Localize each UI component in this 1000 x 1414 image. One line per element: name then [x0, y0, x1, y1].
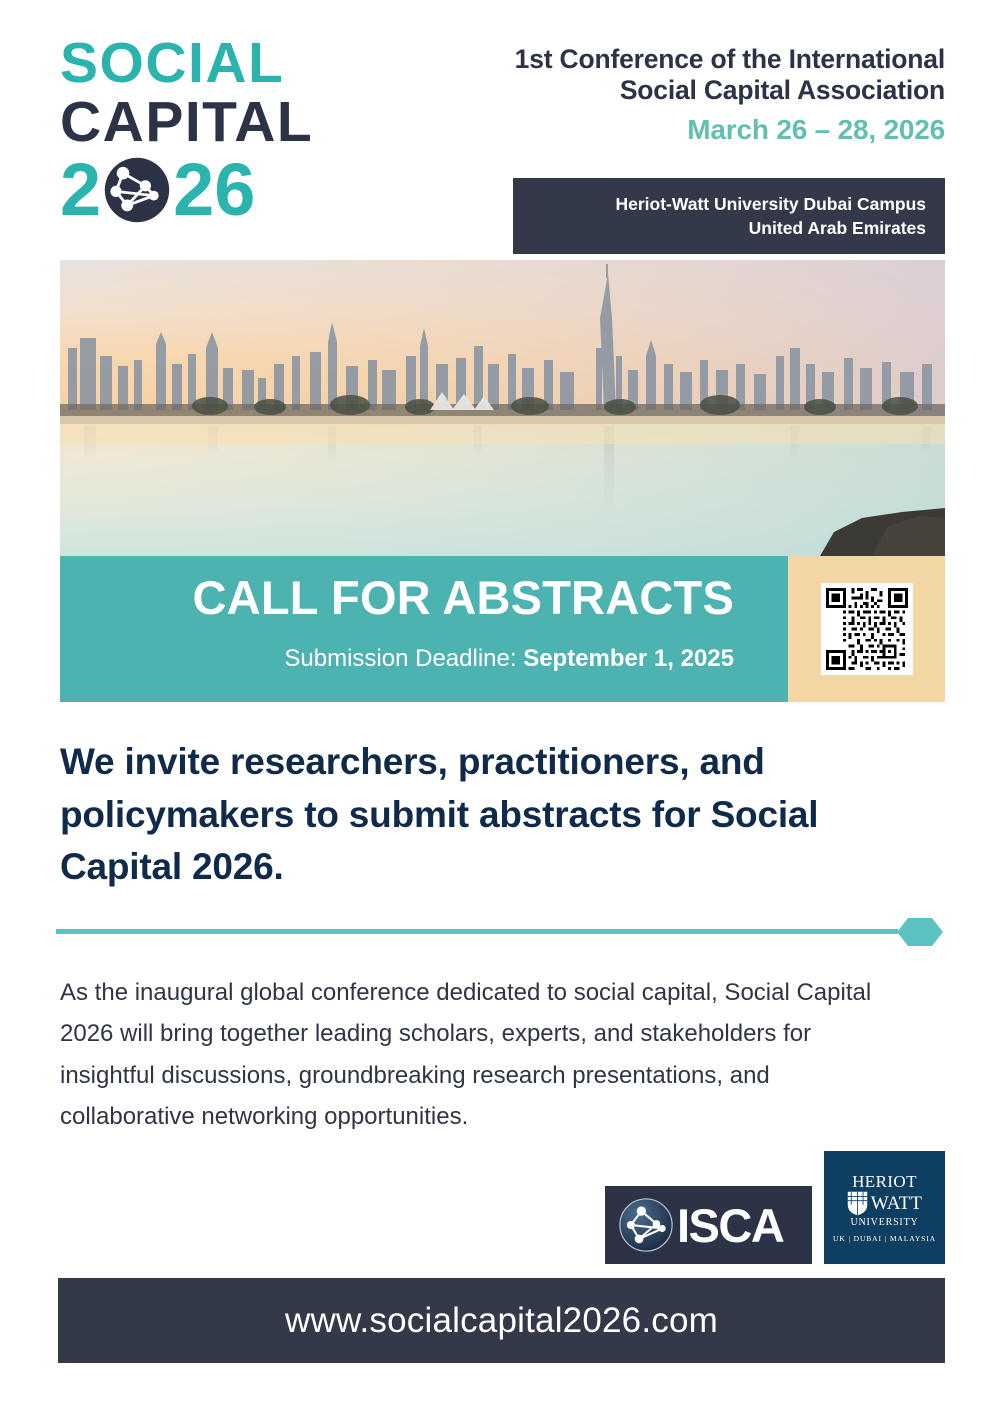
hw-university: UNIVERSITY [851, 1217, 919, 1228]
headline: We invite researchers, practitioners, an… [60, 736, 940, 894]
section-divider [56, 918, 943, 946]
logo-line-social: SOCIAL [60, 36, 360, 91]
logo-year: 2 26 [60, 153, 360, 227]
social-capital-logo: SOCIAL CAPITAL 2 26 [60, 36, 360, 227]
heriot-watt-crest-icon [847, 1191, 868, 1216]
network-globe-icon [102, 155, 172, 225]
cta-deadline: Submission Deadline: September 1, 2025 [284, 645, 734, 673]
divider-line [56, 929, 898, 934]
hw-locations: UK | DUBAI | MALAYSIA [833, 1234, 936, 1243]
logo-year-suffix: 26 [173, 157, 255, 224]
hexagon-accent-icon [897, 918, 943, 946]
hw-watt-row: WATT [847, 1191, 922, 1216]
conference-title-line2: Social Capital Association [375, 75, 945, 106]
poster-root: SOCIAL CAPITAL 2 26 1st Conference [0, 0, 1000, 1414]
conference-dates: March 26 – 28, 2026 [375, 114, 945, 146]
header-text-block: 1st Conference of the International Soci… [375, 44, 945, 146]
isca-network-globe-icon [617, 1196, 675, 1254]
venue-line-2: United Arab Emirates [749, 216, 926, 240]
hw-heriot: HERIOT [852, 1173, 917, 1190]
cta-deadline-label: Submission Deadline: [284, 645, 523, 672]
body-paragraph: As the inaugural global conference dedic… [60, 972, 905, 1137]
logo-year-prefix: 2 [60, 157, 101, 224]
website-url[interactable]: www.socialcapital2026.com [285, 1301, 718, 1341]
venue-box: Heriot-Watt University Dubai Campus Unit… [513, 178, 945, 254]
conference-title-line1: 1st Conference of the International [375, 44, 945, 75]
cta-title: CALL FOR ABSTRACTS [193, 574, 734, 621]
logo-line-capital: CAPITAL [60, 95, 360, 150]
cta-deadline-date: September 1, 2025 [523, 645, 734, 672]
isca-wordmark: ISCA [677, 1202, 783, 1249]
heriot-watt-logo: HERIOT WATT UNIVERSITY UK | DUBAI | MALA… [824, 1151, 945, 1264]
footer-bar: www.socialcapital2026.com [58, 1278, 945, 1363]
dubai-skyline-photo [60, 260, 945, 556]
isca-logo: ISCA [605, 1186, 812, 1264]
qr-panel [788, 556, 945, 702]
call-for-abstracts-band: CALL FOR ABSTRACTS Submission Deadline: … [60, 556, 788, 702]
venue-line-1: Heriot-Watt University Dubai Campus [615, 192, 926, 216]
hw-watt: WATT [871, 1194, 922, 1213]
qr-code-icon[interactable] [821, 583, 913, 675]
